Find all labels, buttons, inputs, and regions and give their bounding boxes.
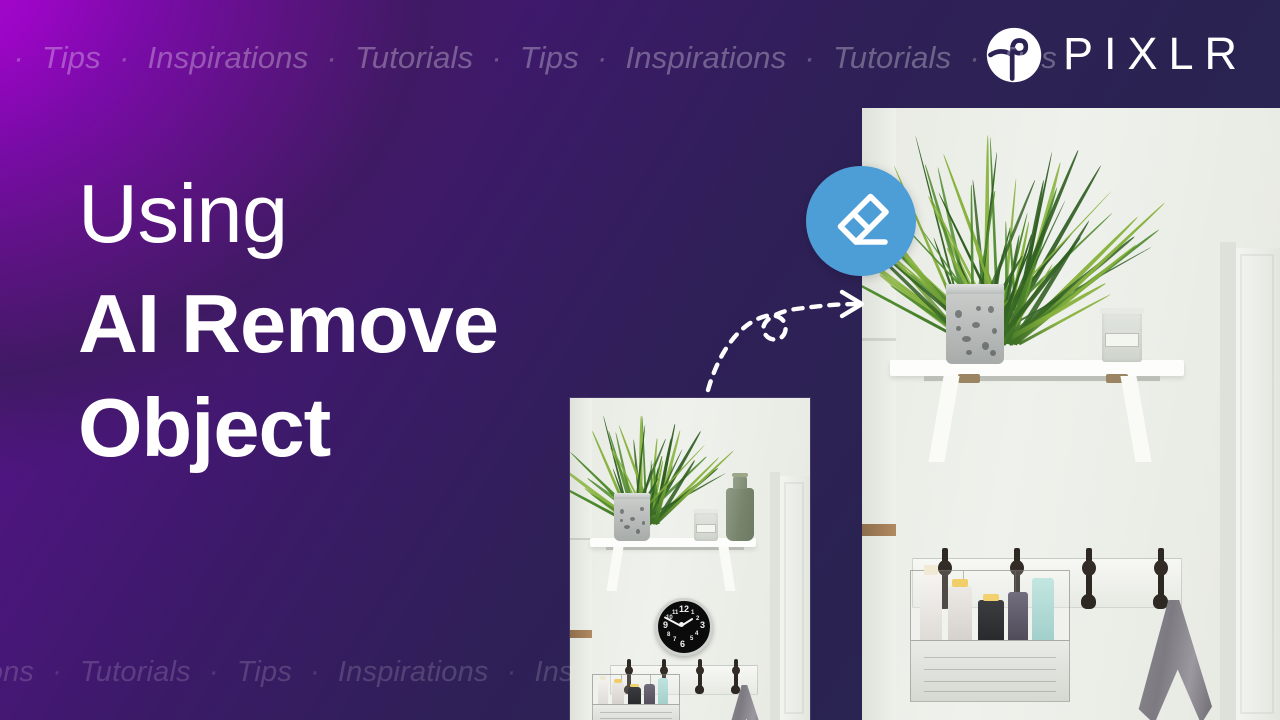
curved-dashed-arrow-icon xyxy=(690,278,890,398)
brand-name: PIXLR xyxy=(1063,31,1248,79)
promo-banner: ials·Tips·Inspirations·Tutorials·Tips·In… xyxy=(0,0,1280,720)
marquee-separator: · xyxy=(48,656,66,688)
marquee-separator: · xyxy=(965,40,984,75)
marquee-separator: · xyxy=(205,656,223,688)
marquee-word: Inspirations xyxy=(147,40,308,75)
marquee-separator: · xyxy=(115,40,134,75)
brand-logo: PIXLR xyxy=(985,26,1248,84)
marquee-separator: · xyxy=(487,40,506,75)
marquee-separator: · xyxy=(503,656,521,688)
marquee-word: Ins xyxy=(534,656,573,688)
headline-line-2: AI Remove xyxy=(78,272,698,376)
marquee-word: Tutorials xyxy=(833,40,951,75)
headline-line-1: Using xyxy=(78,166,698,262)
marquee-separator: · xyxy=(593,40,612,75)
marquee-word: Tutorials xyxy=(355,40,473,75)
pixlr-logo-icon xyxy=(985,26,1043,84)
marquee-word: Tips xyxy=(237,656,292,688)
eraser-icon xyxy=(829,189,893,253)
marquee-word: Tips xyxy=(520,40,579,75)
eraser-icon-badge[interactable] xyxy=(806,166,916,276)
marquee-separator: · xyxy=(306,656,324,688)
after-photo xyxy=(862,108,1280,720)
wall-clock: 12 3 6 9 1 2 4 5 7 8 10 11 xyxy=(655,598,713,656)
marquee-word: Inspirations xyxy=(625,40,786,75)
marquee-word: Tips xyxy=(42,40,101,75)
marquee-word: Inspirations xyxy=(338,656,489,688)
marquee-separator: · xyxy=(800,40,819,75)
marquee-separator: · xyxy=(322,40,341,75)
green-vase xyxy=(726,488,754,541)
before-photo: 12 3 6 9 1 2 4 5 7 8 10 11 xyxy=(570,398,810,720)
marquee-separator: · xyxy=(9,40,28,75)
marquee-word: spirations xyxy=(0,656,34,688)
marquee-word: Tutorials xyxy=(80,656,191,688)
